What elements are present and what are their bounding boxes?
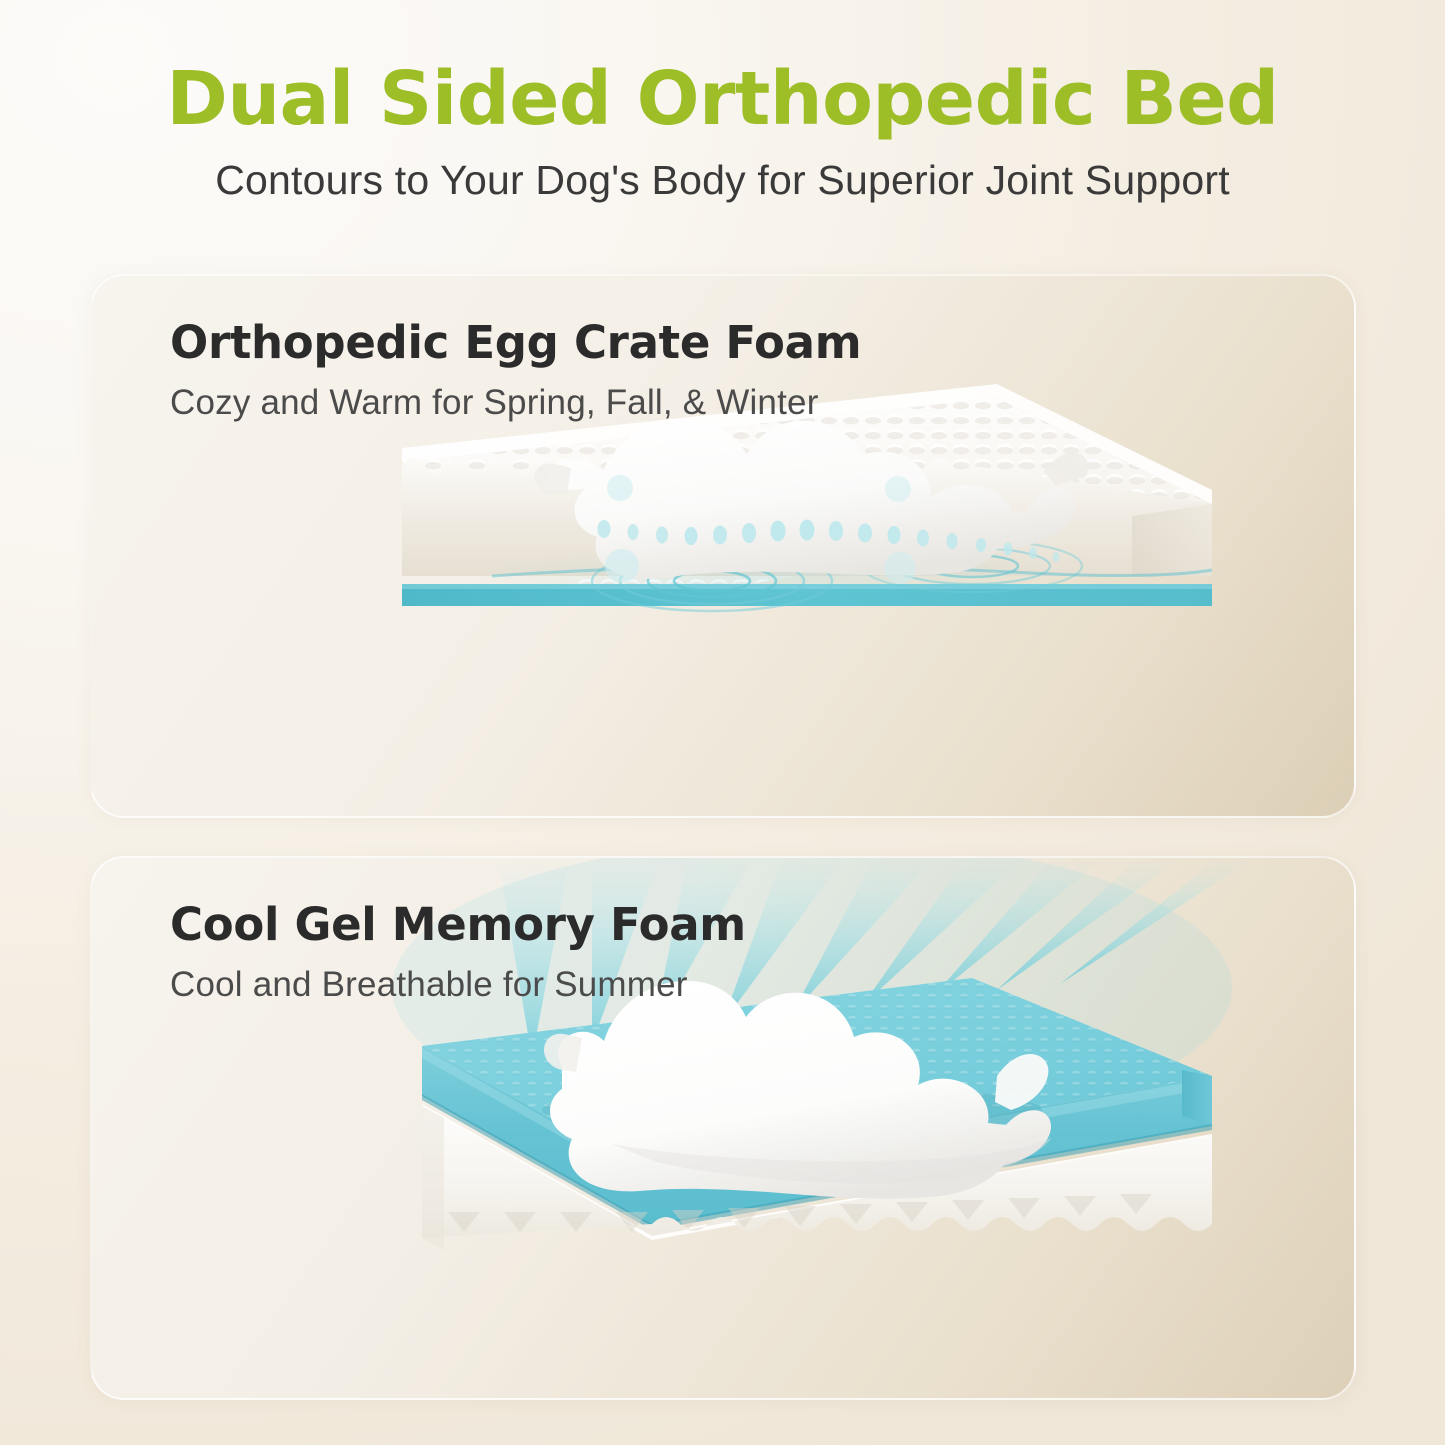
feature-card-egg-crate: Orthopedic Egg Crate Foam Cozy and Warm … bbox=[90, 274, 1356, 818]
cool-gel-card-header: Cool Gel Memory Foam Cool and Breathable… bbox=[170, 902, 746, 1002]
feature-card-cool-gel: [data-name="cooling-rays"] polygon{fill:… bbox=[90, 856, 1356, 1400]
card-subtitle-cool-gel: Cool and Breathable for Summer bbox=[170, 947, 746, 1002]
white-base-left-face bbox=[422, 1106, 444, 1250]
product-infographic: Dual Sided Orthopedic Bed Contours to Yo… bbox=[0, 0, 1445, 1445]
page-subtitle: Contours to Your Dog's Body for Superior… bbox=[0, 136, 1445, 201]
header: Dual Sided Orthopedic Bed Contours to Yo… bbox=[0, 0, 1445, 201]
card-title-cool-gel: Cool Gel Memory Foam bbox=[170, 902, 746, 947]
egg-crate-right-face bbox=[1132, 504, 1212, 576]
card-subtitle-egg-crate: Cozy and Warm for Spring, Fall, & Winter bbox=[170, 365, 861, 420]
card-title-egg-crate: Orthopedic Egg Crate Foam bbox=[170, 320, 861, 365]
egg-crate-card-header: Orthopedic Egg Crate Foam Cozy and Warm … bbox=[170, 320, 861, 420]
page-title: Dual Sided Orthopedic Bed bbox=[0, 0, 1445, 136]
